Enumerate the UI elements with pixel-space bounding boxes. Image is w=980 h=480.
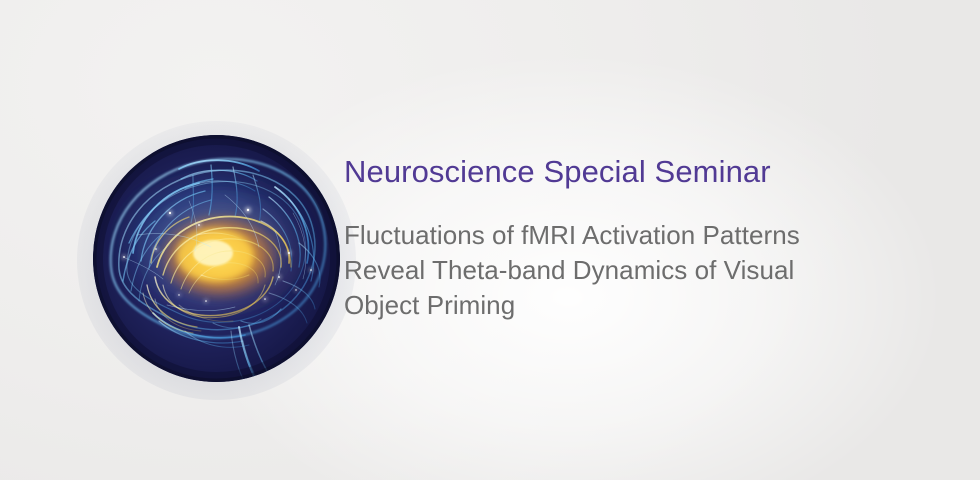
brain-illustration-icon bbox=[93, 135, 340, 382]
subtitle-line-2: Reveal Theta-band Dynamics of Visual bbox=[344, 253, 944, 288]
subtitle-line-3: Object Priming bbox=[344, 288, 944, 323]
page-title: Neuroscience Special Seminar bbox=[344, 152, 944, 192]
seminar-banner: Neuroscience Special Seminar Fluctuation… bbox=[0, 0, 980, 480]
seminar-subtitle: Fluctuations of fMRI Activation Patterns… bbox=[344, 218, 944, 323]
brain-figure bbox=[93, 135, 340, 382]
subtitle-line-1: Fluctuations of fMRI Activation Patterns bbox=[344, 218, 944, 253]
seminar-text-block: Neuroscience Special Seminar Fluctuation… bbox=[344, 152, 944, 323]
